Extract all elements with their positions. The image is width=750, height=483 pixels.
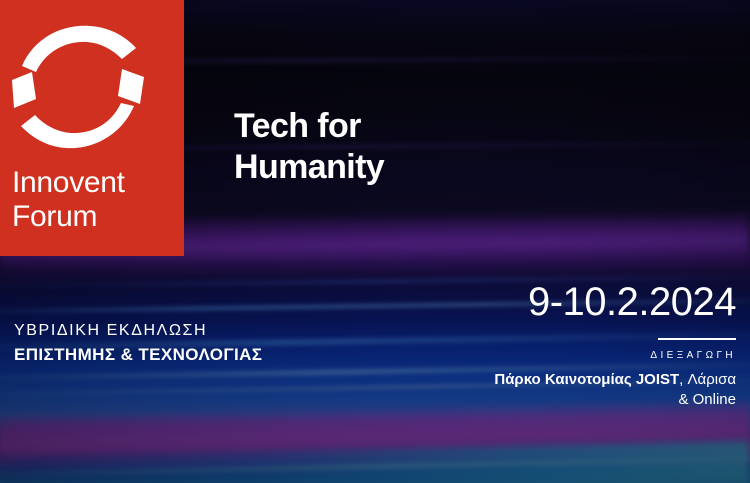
headline-line1: Tech for: [234, 106, 384, 147]
headline-line2: Humanity: [234, 147, 384, 188]
brand-wordmark-line1: Innovent: [12, 166, 125, 200]
venue-online: & Online: [494, 390, 736, 410]
event-info: 9-10.2.2024 ΔΙΕΞΑΓΩΓΗ Πάρκο Καινοτομίας …: [494, 282, 736, 410]
brand-panel: Innovent Forum: [0, 0, 184, 256]
broken-ring-icon: [10, 22, 148, 154]
event-date: 9-10.2.2024: [494, 282, 736, 322]
headline: Tech for Humanity: [234, 106, 384, 189]
venue-label: ΔΙΕΞΑΓΩΓΗ: [494, 351, 736, 361]
venue-name-rest: , Λάρισα: [679, 371, 736, 388]
venue-name-strong: Πάρκο Καινοτομίας JOIST: [494, 371, 679, 388]
brand-wordmark: Innovent Forum: [12, 166, 125, 233]
event-banner: Innovent Forum Tech for Humanity ΥΒΡΙΔΙΚ…: [0, 0, 750, 483]
event-type: ΥΒΡΙΔΙΚΗ ΕΚΔΗΛΩΣΗ ΕΠΙΣΤΗΜΗΣ & ΤΕΧΝΟΛΟΓΙΑ…: [14, 320, 262, 367]
venue-name: Πάρκο Καινοτομίας JOIST, Λάρισα: [494, 370, 736, 390]
event-type-light: ΥΒΡΙΔΙΚΗ ΕΚΔΗΛΩΣΗ: [14, 320, 262, 342]
brand-wordmark-line2: Forum: [12, 200, 125, 234]
event-type-bold: ΕΠΙΣΤΗΜΗΣ & ΤΕΧΝΟΛΟΓΙΑΣ: [14, 344, 262, 367]
divider-rule: [658, 338, 736, 340]
